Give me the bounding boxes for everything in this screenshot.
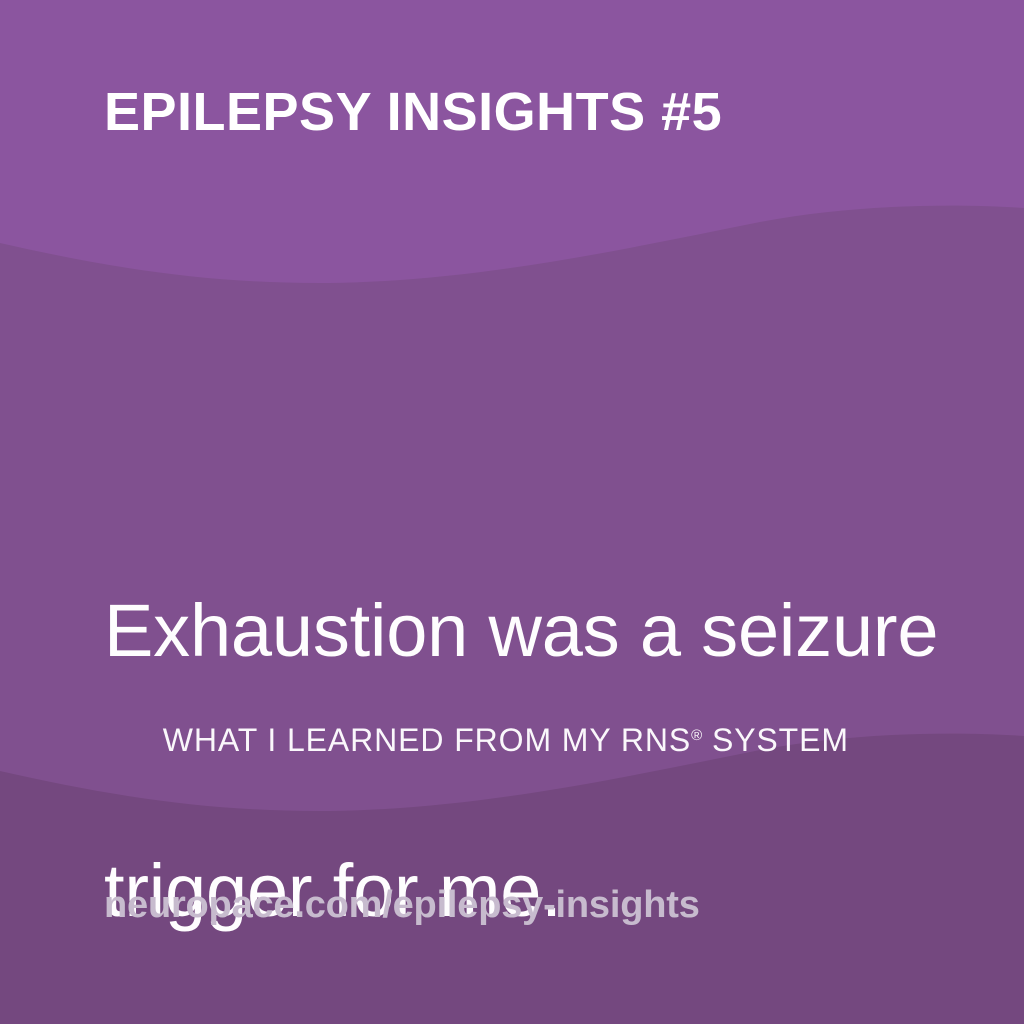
epilepsy-insights-card: EPILEPSY INSIGHTS #5 Exhaustion was a se… xyxy=(0,0,1024,1024)
page-title: EPILEPSY INSIGHTS #5 xyxy=(104,83,722,141)
quote-line-1: Exhaustion was a seizure xyxy=(104,588,938,675)
subtitle-tail: SYSTEM xyxy=(702,722,849,758)
registered-trademark-mark: ® xyxy=(691,727,702,744)
card-content: EPILEPSY INSIGHTS #5 Exhaustion was a se… xyxy=(0,0,1024,1024)
footer-url[interactable]: neuropace.com/epilepsy-insights xyxy=(104,883,700,929)
subtitle-text: WHAT I LEARNED FROM MY RNS® SYSTEM xyxy=(104,683,849,798)
subtitle-main: WHAT I LEARNED FROM MY RNS xyxy=(163,722,691,758)
